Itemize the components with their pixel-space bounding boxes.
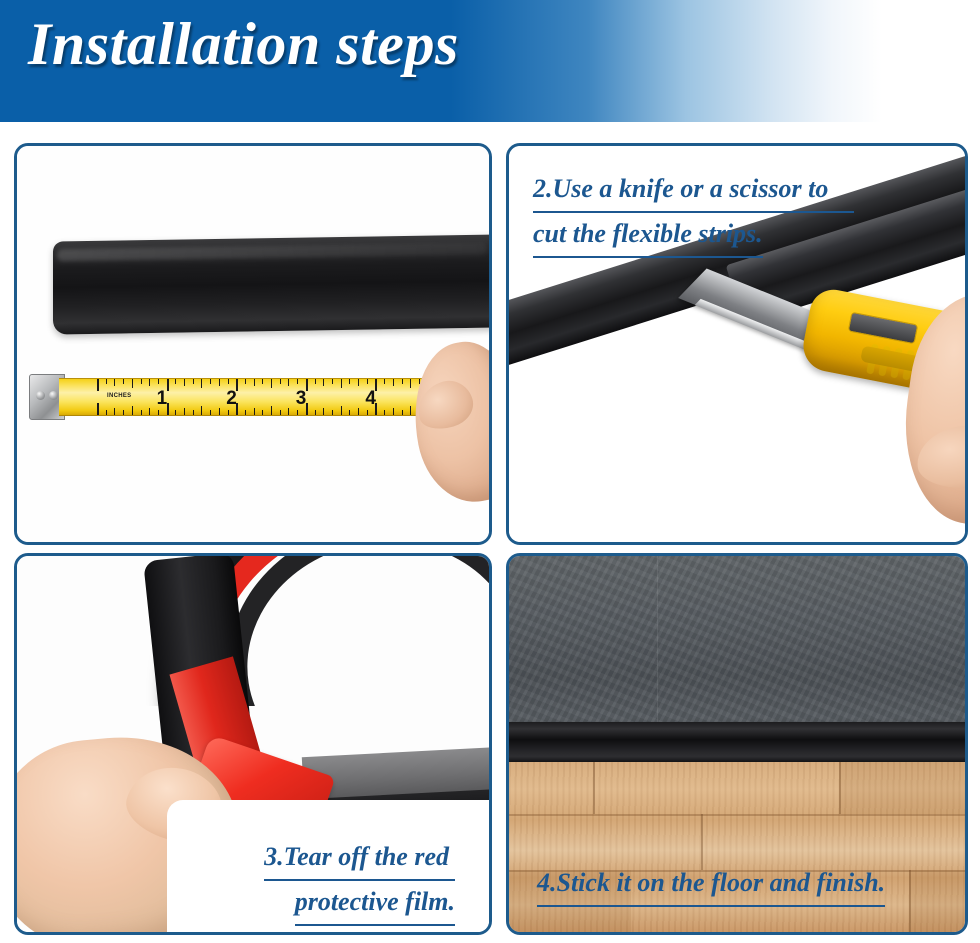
tape-tick bbox=[262, 379, 263, 384]
tape-tick bbox=[254, 408, 255, 415]
tape-tick bbox=[184, 408, 185, 415]
tape-tick bbox=[358, 379, 359, 386]
step-4-caption: 4.Stick it on the floor and finish. bbox=[537, 862, 885, 907]
step-2-caption: 2.Use a knife or a scissor to cut the fl… bbox=[533, 168, 854, 258]
tape-tick bbox=[254, 379, 255, 386]
tape-tick bbox=[332, 379, 333, 384]
step-panel-3: 3.Tear off the red protective film. bbox=[14, 553, 492, 935]
floor-seam bbox=[509, 814, 965, 816]
step-3-caption: 3.Tear off the red protective film. bbox=[264, 836, 455, 926]
tape-tick bbox=[271, 406, 272, 415]
tape-tick bbox=[149, 408, 150, 415]
tape-tick bbox=[393, 379, 394, 386]
caption-line: 2.Use a knife or a scissor to bbox=[533, 168, 854, 213]
tape-tick bbox=[201, 379, 202, 388]
tape-tick bbox=[114, 379, 115, 386]
tape-tick bbox=[175, 379, 176, 384]
tape-number: 1 bbox=[157, 388, 168, 410]
tape-tick bbox=[219, 408, 220, 415]
tape-unit-label: INCHES bbox=[107, 393, 131, 399]
tape-tick bbox=[245, 379, 246, 384]
tape-number: 4 bbox=[365, 388, 376, 410]
tape-tick bbox=[332, 410, 333, 415]
gray-concrete-wall bbox=[509, 556, 965, 724]
tape-tick bbox=[114, 408, 115, 415]
tape-tick bbox=[245, 410, 246, 415]
tape-tick bbox=[410, 379, 411, 388]
tape-measure-blade: INCHES 12345 bbox=[59, 378, 459, 416]
header-banner: Installation steps bbox=[0, 0, 980, 122]
tape-tick bbox=[97, 403, 99, 415]
tape-tick bbox=[323, 379, 324, 386]
tape-number: 2 bbox=[226, 388, 237, 410]
tape-tick bbox=[367, 379, 368, 384]
tape-tick bbox=[201, 406, 202, 415]
tape-tick bbox=[132, 379, 133, 388]
tape-tick bbox=[123, 410, 124, 415]
tape-tick bbox=[367, 410, 368, 415]
tape-tick bbox=[141, 379, 142, 384]
step-1-photo: INCHES 12345 bbox=[17, 146, 489, 542]
tape-tick bbox=[158, 379, 159, 384]
tape-tick bbox=[141, 410, 142, 415]
wall-seam bbox=[657, 556, 658, 724]
tape-tick bbox=[358, 408, 359, 415]
tape-tick bbox=[315, 410, 316, 415]
tape-tick bbox=[349, 379, 350, 384]
tape-tick bbox=[280, 410, 281, 415]
page-title: Installation steps bbox=[28, 14, 459, 74]
caption-line: 4.Stick it on the floor and finish. bbox=[537, 862, 885, 907]
tape-tick bbox=[132, 406, 133, 415]
tape-tick bbox=[106, 379, 107, 384]
tape-tick bbox=[341, 406, 342, 415]
caption-line: cut the flexible strips. bbox=[533, 213, 763, 258]
tape-tick bbox=[106, 410, 107, 415]
tape-tick bbox=[384, 410, 385, 415]
tape-tick bbox=[288, 408, 289, 415]
caption-line: protective film. bbox=[295, 881, 455, 926]
tape-tick bbox=[123, 379, 124, 384]
step-panel-4: 4.Stick it on the floor and finish. bbox=[506, 553, 968, 935]
tape-tick bbox=[219, 379, 220, 386]
tape-tick bbox=[288, 379, 289, 386]
tape-tick bbox=[393, 408, 394, 415]
tape-tick bbox=[280, 379, 281, 384]
tape-tick bbox=[297, 410, 298, 415]
plank-edge bbox=[593, 762, 595, 814]
tape-tick bbox=[297, 379, 298, 384]
tape-tick bbox=[402, 410, 403, 415]
tape-tick bbox=[175, 410, 176, 415]
tape-tick bbox=[193, 379, 194, 384]
tape-tick bbox=[228, 379, 229, 384]
tape-tick bbox=[349, 410, 350, 415]
plank-tint bbox=[839, 762, 968, 814]
tape-tick bbox=[271, 379, 272, 388]
tape-tick bbox=[262, 410, 263, 415]
tape-tick bbox=[149, 379, 150, 386]
tape-tick bbox=[228, 410, 229, 415]
tape-number: 3 bbox=[296, 388, 307, 410]
installed-black-strip bbox=[509, 722, 965, 764]
hook-rivet bbox=[49, 391, 58, 400]
tape-tick bbox=[193, 410, 194, 415]
tape-tick bbox=[184, 379, 185, 386]
step-panel-2: 2.Use a knife or a scissor to cut the fl… bbox=[506, 143, 968, 545]
step-panel-1: INCHES 12345 1.Measure the correct lengt… bbox=[14, 143, 492, 545]
plank-tint bbox=[909, 870, 968, 932]
tape-tick bbox=[210, 379, 211, 384]
tape-tick bbox=[323, 408, 324, 415]
tape-tick bbox=[341, 379, 342, 388]
tape-tick bbox=[402, 379, 403, 384]
tape-tick bbox=[315, 379, 316, 384]
tape-tick bbox=[384, 379, 385, 384]
tape-tick bbox=[97, 379, 99, 391]
caption-line: 3.Tear off the red bbox=[264, 836, 455, 881]
hook-rivet bbox=[36, 391, 45, 400]
tape-tick bbox=[158, 410, 159, 415]
tape-tick bbox=[410, 406, 411, 415]
tape-tick bbox=[210, 410, 211, 415]
